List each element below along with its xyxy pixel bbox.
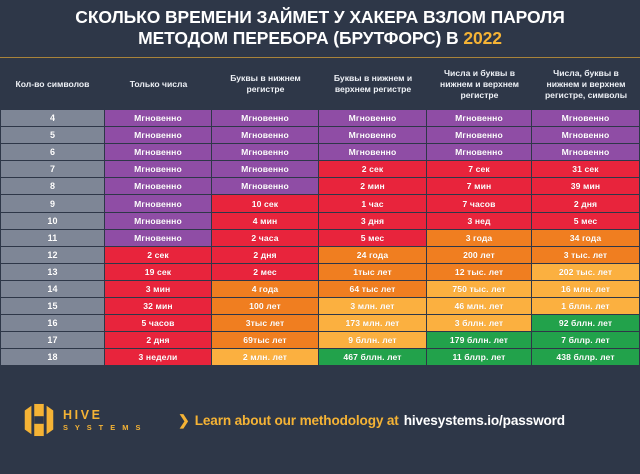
title-line-2: МЕТОДОМ ПЕРЕБОРА (БРУТФОРС) В 2022 [18,28,622,49]
methodology-url[interactable]: hivesystems.io/password [404,413,565,428]
row-label-char-count: 6 [0,144,105,160]
crack-time-cell: Мгновенно [532,127,640,143]
crack-time-cell: 3 мин [105,281,212,297]
crack-time-cell: Мгновенно [105,213,212,229]
footer: HIVE S Y S T E M S ❯ Learn about our met… [0,366,640,474]
crack-time-cell: Мгновенно [319,144,427,160]
table-row: 10Мгновенно4 мин3 дня3 нед5 мес [0,213,640,230]
column-header-chars: Кол-во символов [0,79,105,90]
crack-time-cell: 2 млн. лет [212,349,319,365]
crack-time-cell: 202 тыс. лет [532,264,640,280]
table-body: 4МгновенноМгновенноМгновенноМгновенноМгн… [0,110,640,366]
crack-time-cell: 2 мес [212,264,319,280]
infographic-root: СКОЛЬКО ВРЕМЕНИ ЗАЙМЕТ У ХАКЕРА ВЗЛОМ ПА… [0,0,640,474]
table-row: 8МгновенноМгновенно2 мин7 мин39 мин [0,178,640,195]
column-header-lowercase: Буквы в нижнем регистре [212,73,319,95]
crack-time-cell: Мгновенно [212,127,319,143]
crack-time-cell: Мгновенно [105,178,212,194]
crack-time-cell: 16 млн. лет [532,281,640,297]
logo-systems-text: S Y S T E M S [63,424,143,431]
crack-time-cell: Мгновенно [105,195,212,211]
crack-time-cell: Мгновенно [105,161,212,177]
row-label-char-count: 12 [0,247,105,263]
crack-time-cell: Мгновенно [212,110,319,126]
crack-time-cell: 173 млн. лет [319,315,427,331]
column-header-alphanumsymbol: Числа, буквы в нижнем и верхнем регистре… [532,68,640,101]
table-row: 143 мин4 года64 тыс лет750 тыс. лет16 мл… [0,281,640,298]
crack-time-cell: 750 тыс. лет [427,281,532,297]
table-row: 4МгновенноМгновенноМгновенноМгновенноМгн… [0,110,640,127]
row-label-char-count: 10 [0,213,105,229]
row-label-char-count: 8 [0,178,105,194]
crack-time-cell: Мгновенно [427,127,532,143]
row-label-char-count: 9 [0,195,105,211]
crack-time-cell: Мгновенно [427,144,532,160]
crack-time-cell: Мгновенно [212,178,319,194]
crack-time-cell: 2 часа [212,230,319,246]
column-header-mixedcase: Буквы в нижнем и верхнем регистре [319,73,427,95]
crack-time-cell: Мгновенно [105,144,212,160]
row-label-char-count: 7 [0,161,105,177]
crack-time-cell: Мгновенно [319,127,427,143]
row-label-char-count: 13 [0,264,105,280]
row-label-char-count: 11 [0,230,105,246]
title-line-2-text: МЕТОДОМ ПЕРЕБОРА (БРУТФОРС) В [138,28,463,48]
row-label-char-count: 17 [0,332,105,348]
crack-time-cell: 24 года [319,247,427,263]
crack-time-cell: 5 мес [319,230,427,246]
logo-hive-text: HIVE [63,409,143,422]
crack-time-cell: 64 тыс лет [319,281,427,297]
table-row: 9Мгновенно10 сек1 час7 часов2 дня [0,195,640,212]
crack-time-cell: 2 дня [532,195,640,211]
crack-time-cell: 34 года [532,230,640,246]
crack-time-cell: 19 сек [105,264,212,280]
crack-time-cell: 2 мин [319,178,427,194]
crack-time-cell: Мгновенно [427,110,532,126]
table-row: 122 сек2 дня24 года200 лет3 тыс. лет [0,247,640,264]
crack-time-cell: 31 сек [532,161,640,177]
crack-time-cell: 1тыс лет [319,264,427,280]
crack-time-cell: 5 часов [105,315,212,331]
crack-time-cell: 2 сек [105,247,212,263]
title-year: 2022 [463,28,502,48]
row-label-char-count: 14 [0,281,105,297]
crack-time-cell: 92 бллн. лет [532,315,640,331]
table-row: 172 дня69тыс лет9 бллн. лет179 бллн. лет… [0,332,640,349]
crack-time-cell: 7 бллр. лет [532,332,640,348]
row-label-char-count: 18 [0,349,105,365]
methodology-link[interactable]: ❯ Learn about our methodology at hivesys… [178,412,565,429]
crack-time-cell: 438 бллр. лет [532,349,640,365]
table-row: 6МгновенноМгновенноМгновенноМгновенноМгн… [0,144,640,161]
crack-time-cell: Мгновенно [532,144,640,160]
crack-time-cell: 9 бллн. лет [319,332,427,348]
crack-time-cell: 2 сек [319,161,427,177]
crack-time-cell: 3 нед [427,213,532,229]
table-row: 5МгновенноМгновенноМгновенноМгновенноМгн… [0,127,640,144]
crack-time-cell: Мгновенно [212,144,319,160]
title-block: СКОЛЬКО ВРЕМЕНИ ЗАЙМЕТ У ХАКЕРА ВЗЛОМ ПА… [0,0,640,55]
logo-wordmark: HIVE S Y S T E M S [63,409,143,432]
hive-systems-logo: HIVE S Y S T E M S [22,401,143,439]
crack-time-cell: 11 бллр. лет [427,349,532,365]
table-row: 183 недели2 млн. лет467 бллн. лет11 бллр… [0,349,640,366]
crack-time-cell: 5 мес [532,213,640,229]
crack-time-cell: Мгновенно [212,161,319,177]
row-label-char-count: 15 [0,298,105,314]
methodology-label: Learn about our methodology at [195,413,399,428]
crack-time-cell: 200 лет [427,247,532,263]
crack-time-cell: 4 года [212,281,319,297]
crack-time-cell: Мгновенно [105,230,212,246]
crack-time-cell: 7 мин [427,178,532,194]
crack-time-cell: Мгновенно [319,110,427,126]
table-row: 7МгновенноМгновенно2 сек7 сек31 сек [0,161,640,178]
crack-time-cell: 32 мин [105,298,212,314]
crack-time-cell: 467 бллн. лет [319,349,427,365]
row-label-char-count: 16 [0,315,105,331]
crack-time-cell: 4 мин [212,213,319,229]
chevron-right-icon: ❯ [178,412,190,429]
column-header-numbers: Только числа [105,79,212,90]
table-row: 1319 сек2 мес1тыс лет12 тыс. лет202 тыс.… [0,264,640,281]
table-header-row: Кол-во символов Только числа Буквы в ниж… [0,58,640,110]
crack-time-cell: 46 млн. лет [427,298,532,314]
crack-time-cell: 69тыс лет [212,332,319,348]
crack-time-cell: 3 тыс. лет [532,247,640,263]
crack-time-cell: 10 сек [212,195,319,211]
row-label-char-count: 4 [0,110,105,126]
crack-time-cell: 1 час [319,195,427,211]
row-label-char-count: 5 [0,127,105,143]
column-header-alphanumeric: Числа и буквы в нижнем и верхнем регистр… [427,68,532,101]
crack-time-cell: 179 бллн. лет [427,332,532,348]
crack-time-cell: 3тыс лет [212,315,319,331]
table-row: 165 часов3тыс лет173 млн. лет3 бллн. лет… [0,315,640,332]
crack-time-cell: 100 лет [212,298,319,314]
crack-time-cell: Мгновенно [105,127,212,143]
crack-time-cell: 39 мин [532,178,640,194]
table-row: 1532 мин100 лет3 млн. лет46 млн. лет1 бл… [0,298,640,315]
crack-time-cell: 3 недели [105,349,212,365]
crack-time-cell: 3 года [427,230,532,246]
hive-hexagon-logo-icon [22,401,56,439]
crack-time-cell: 12 тыс. лет [427,264,532,280]
crack-time-cell: 3 млн. лет [319,298,427,314]
crack-time-cell: 3 бллн. лет [427,315,532,331]
crack-time-cell: 2 дня [105,332,212,348]
title-line-1: СКОЛЬКО ВРЕМЕНИ ЗАЙМЕТ У ХАКЕРА ВЗЛОМ ПА… [18,7,622,28]
crack-time-cell: Мгновенно [105,110,212,126]
crack-time-cell: 7 сек [427,161,532,177]
crack-time-cell: 1 бллн. лет [532,298,640,314]
crack-time-cell: 3 дня [319,213,427,229]
crack-time-cell: 7 часов [427,195,532,211]
crack-time-cell: Мгновенно [532,110,640,126]
table-row: 11Мгновенно2 часа5 мес3 года34 года [0,230,640,247]
crack-time-cell: 2 дня [212,247,319,263]
